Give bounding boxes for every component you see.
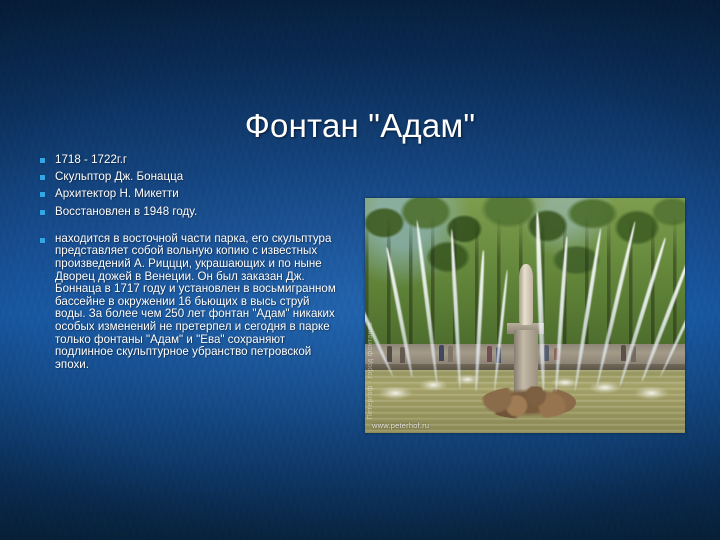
square-bullet-icon <box>40 186 55 197</box>
photo-side-watermark: Петергоф - город фонтанов <box>367 322 374 419</box>
photo-water-splash <box>378 386 413 400</box>
square-bullet-icon <box>40 169 55 180</box>
fountain-photo: Петергоф - город фонтанов www.peterhof.r… <box>365 198 685 433</box>
bullet-item-label: Скульптор Дж. Бонацца <box>55 169 340 185</box>
bullet-list-item: 1718 - 1722г.г <box>40 152 340 168</box>
square-bullet-icon <box>40 204 55 215</box>
bullet-item-label: Восстановлен в 1948 году. <box>55 204 340 220</box>
photo-water-splash <box>634 386 669 400</box>
photo-person-silhouette <box>387 346 392 362</box>
photo-water-splash <box>455 374 481 385</box>
photo-person-silhouette <box>448 346 453 362</box>
square-bullet-icon <box>40 233 55 243</box>
photo-person-silhouette <box>544 345 549 361</box>
bullet-item-label: Архитектор Н. Микетти <box>55 186 340 202</box>
photo-url-watermark: www.peterhof.ru <box>372 421 429 430</box>
slide-body-content: 1718 - 1722г.г Скульптор Дж. Бонацца Арх… <box>40 152 340 372</box>
photo-person-silhouette <box>487 346 492 362</box>
presentation-slide: Фонтан "Адам" 1718 - 1722г.г Скульптор Д… <box>0 0 720 540</box>
photo-person-silhouette <box>621 345 626 361</box>
photo-water-splash <box>419 379 448 391</box>
photo-adam-statue <box>519 264 533 325</box>
bullet-list-item: Скульптор Дж. Бонацца <box>40 169 340 185</box>
fountain-photo-image: Петергоф - город фонтанов www.peterhof.r… <box>365 198 685 433</box>
slide-title: Фонтан "Адам" <box>36 106 684 146</box>
description-paragraph-text: находится в восточной части парка, его с… <box>55 233 340 372</box>
photo-person-silhouette <box>439 345 444 361</box>
square-bullet-icon <box>40 152 55 163</box>
bullet-list-item: Архитектор Н. Микетти <box>40 186 340 202</box>
bullet-item-label: 1718 - 1722г.г <box>55 152 340 168</box>
bullet-list-item: Восстановлен в 1948 году. <box>40 204 340 220</box>
description-paragraph-item: находится в восточной части парка, его с… <box>40 233 340 372</box>
